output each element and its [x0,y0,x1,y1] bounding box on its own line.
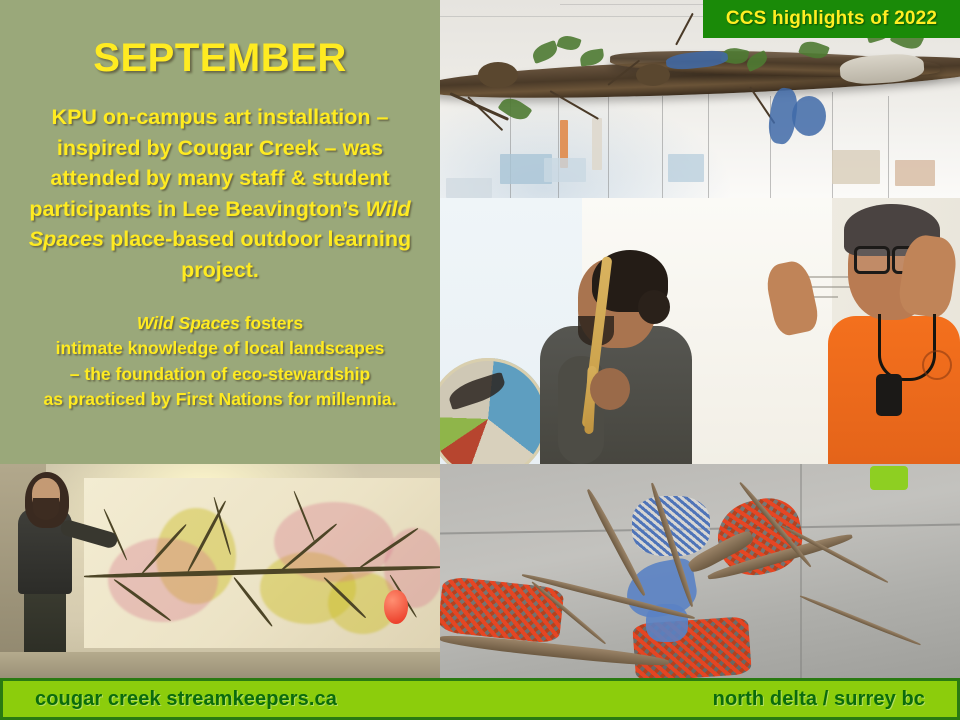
paper-tag [832,150,880,184]
drummer-hair-bun [638,290,670,324]
hanging-string [708,92,709,198]
branch-knob [478,62,518,88]
driftwood-debris-sculpture-photo [440,464,960,678]
leaf [498,93,533,125]
main-paragraph-after: place-based outdoor learning project. [104,227,411,282]
paper-tag [592,118,602,170]
sub-paragraph-line3: – the foundation of eco-stewardship [4,362,436,387]
visitor-beard [33,498,59,520]
sub-paragraph-line4: as practiced by First Nations for millen… [4,387,436,412]
footer-bar: cougar creek streamkeepers.ca north delt… [0,678,960,720]
twig [675,13,694,46]
green-can-debris [870,466,908,490]
leaf [556,33,581,53]
leaf [579,48,605,66]
creek-map-mural-photo [0,464,440,678]
paper-tag [446,178,492,198]
status-badge: CCS highlights of 2022 [703,0,960,38]
text-panel: SEPTEMBER KPU on-campus art installation… [0,0,440,464]
footer-website-label[interactable]: cougar creek streamkeepers.ca [35,688,337,711]
mural-red-pod [384,590,408,624]
sub-paragraph-line1: Wild Spaces fosters [4,311,436,336]
concrete-seam [800,464,802,678]
orange-netting [440,576,565,644]
footer-location-label: north delta / surrey bc [713,688,925,711]
badge-label: CCS highlights of 2022 [726,8,937,30]
hanging-string [608,88,609,198]
sub-paragraph: Wild Spaces fosters intimate knowledge o… [4,311,436,413]
elder-keys [876,374,902,416]
mural-sheet [84,478,440,648]
gallery-floor [0,652,440,678]
hanging-string [558,96,559,198]
sub-paragraph-line2: intimate knowledge of local landscapes [4,336,436,361]
shirt-logo [922,350,952,380]
page-title: SEPTEMBER [93,38,346,78]
main-paragraph-before: KPU on-campus art installation – inspire… [29,105,389,221]
elder-glasses [854,246,890,274]
hanging-string [888,96,889,198]
paper-tag [544,158,586,182]
slide-canvas: SEPTEMBER KPU on-campus art installation… [0,0,960,720]
paper-tag [668,154,704,182]
sub-paragraph-line1-rest: fosters [240,313,303,333]
hanging-string [662,96,663,198]
drummer-hand [590,368,630,410]
paper-tag [895,160,935,186]
leaf [530,40,560,64]
branch-knob [636,64,670,86]
blue-yarn [792,96,826,136]
sub-paragraph-italic-title: Wild Spaces [137,313,240,333]
drummer-and-elder-photo [440,198,960,464]
main-paragraph: KPU on-campus art installation – inspire… [10,102,430,285]
driftwood-stick [799,594,921,646]
